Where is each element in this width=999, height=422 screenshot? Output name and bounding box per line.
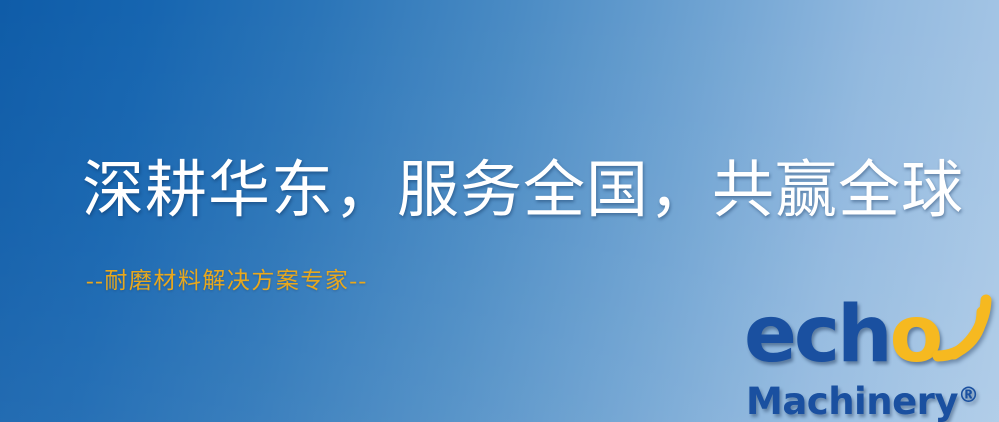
banner-headline: 深耕华东，服务全国，共赢全球 bbox=[82, 152, 964, 230]
logo-wordmark-primary: ech bbox=[744, 290, 890, 380]
logo-tagline-text: Machinery bbox=[746, 380, 958, 422]
signal-waves-icon bbox=[920, 294, 998, 366]
logo-wordmark: echo bbox=[744, 296, 940, 374]
banner-subtitle: --耐磨材料解决方案专家-- bbox=[86, 266, 368, 296]
promotional-banner: 深耕华东，服务全国，共赢全球 --耐磨材料解决方案专家-- echo Machi… bbox=[0, 0, 999, 422]
logo-tagline: Machinery® bbox=[746, 374, 979, 422]
registered-trademark-icon: ® bbox=[958, 383, 979, 407]
company-logo[interactable]: echo Machinery® bbox=[744, 296, 996, 422]
